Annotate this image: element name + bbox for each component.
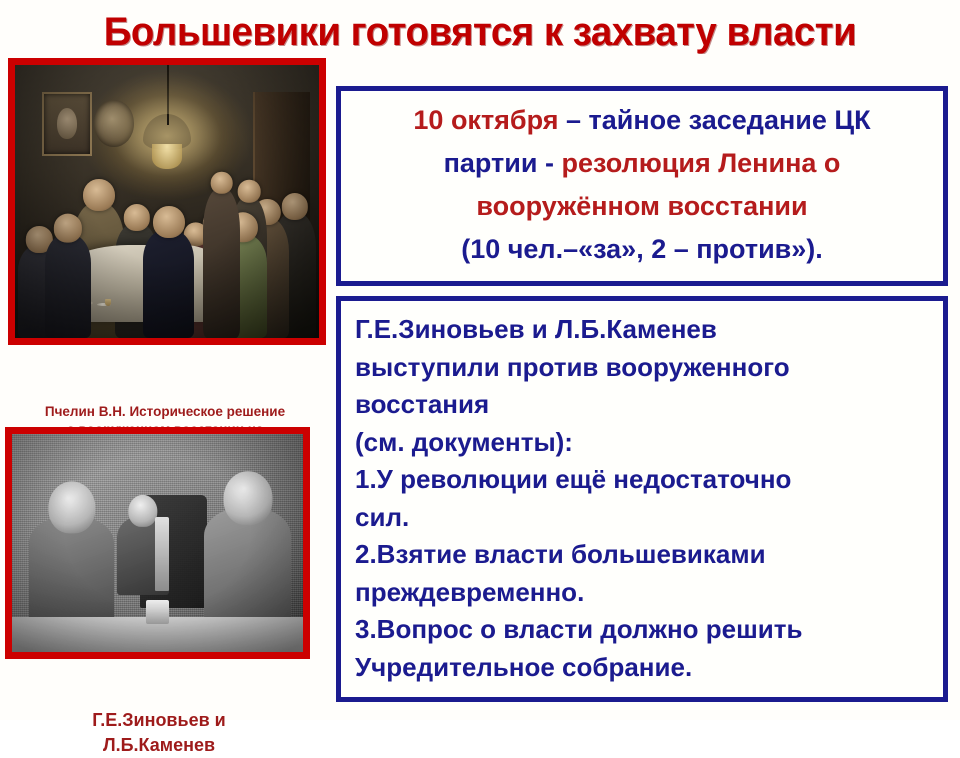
callout-line: 3.Вопрос о власти должно решить: [355, 611, 933, 649]
callout-line: (10 чел.–«за», 2 – против»).: [353, 228, 931, 271]
page-title: Большевики готовятся к захвату власти: [19, 8, 941, 56]
figure-shape: [45, 234, 91, 338]
photo-frame: [5, 427, 310, 659]
callout-line: выступили против вооруженного: [355, 349, 933, 387]
caption-line: Л.Б.Каменев: [4, 733, 314, 758]
callout-line: сил.: [355, 499, 933, 537]
left-media-column: Пчелин В.Н. Историческое решение о воору…: [0, 56, 325, 720]
person-kamenev-shape: [204, 508, 291, 634]
callout-line: 1.У революции ещё недостаточно: [355, 461, 933, 499]
photo-artwork: [12, 434, 303, 652]
callout-text-run: резолюция Ленина о: [561, 148, 840, 178]
figure-shape: [143, 229, 195, 338]
wall-portrait-icon: [42, 92, 92, 156]
painting-image: [15, 65, 319, 338]
callout-line: восстания: [355, 386, 933, 424]
cup-shape: [146, 600, 169, 624]
callout-text-run: партии -: [444, 148, 562, 178]
photo-caption: Г.Е.Зиновьев и Л.Б.Каменев: [4, 708, 314, 758]
callout-box-opposition: Г.Е.Зиновьев и Л.Б.Каменев выступили про…: [336, 296, 948, 702]
callout-text-run: вооружённом восстании: [476, 191, 807, 221]
callout-line: Г.Е.Зиновьев и Л.Б.Каменев: [355, 311, 933, 349]
bottle-shape: [155, 517, 170, 591]
painting-artwork: [15, 65, 319, 338]
caption-line: Пчелин В.Н. Историческое решение: [6, 403, 324, 421]
caption-line: Г.Е.Зиновьев и: [4, 708, 314, 733]
callout-line: 2.Взятие власти большевиками: [355, 536, 933, 574]
callout-text-run: (10 чел.–«за», 2 – против»).: [461, 234, 823, 264]
callout-line: партии - резолюция Ленина о: [353, 142, 931, 185]
callout-line: 10 октября – тайное заседание ЦК: [353, 99, 931, 142]
callout-line: (см. документы):: [355, 424, 933, 462]
figure-shape: [203, 188, 239, 338]
lamp-glass-shape: [152, 144, 182, 169]
painting-frame: [8, 58, 326, 345]
callout-text-run: 10 октября: [413, 105, 558, 135]
callout-box-resolution: 10 октября – тайное заседание ЦК партии …: [336, 86, 948, 286]
callout-line: вооружённом восстании: [353, 185, 931, 228]
photo-image: [12, 434, 303, 652]
callout-line: преждевременно.: [355, 574, 933, 612]
callout-text-run: –: [559, 105, 589, 135]
callout-line: Учредительное собрание.: [355, 649, 933, 687]
wall-plate-icon: [94, 100, 134, 146]
callout-text-run: тайное заседание ЦК: [589, 105, 871, 135]
